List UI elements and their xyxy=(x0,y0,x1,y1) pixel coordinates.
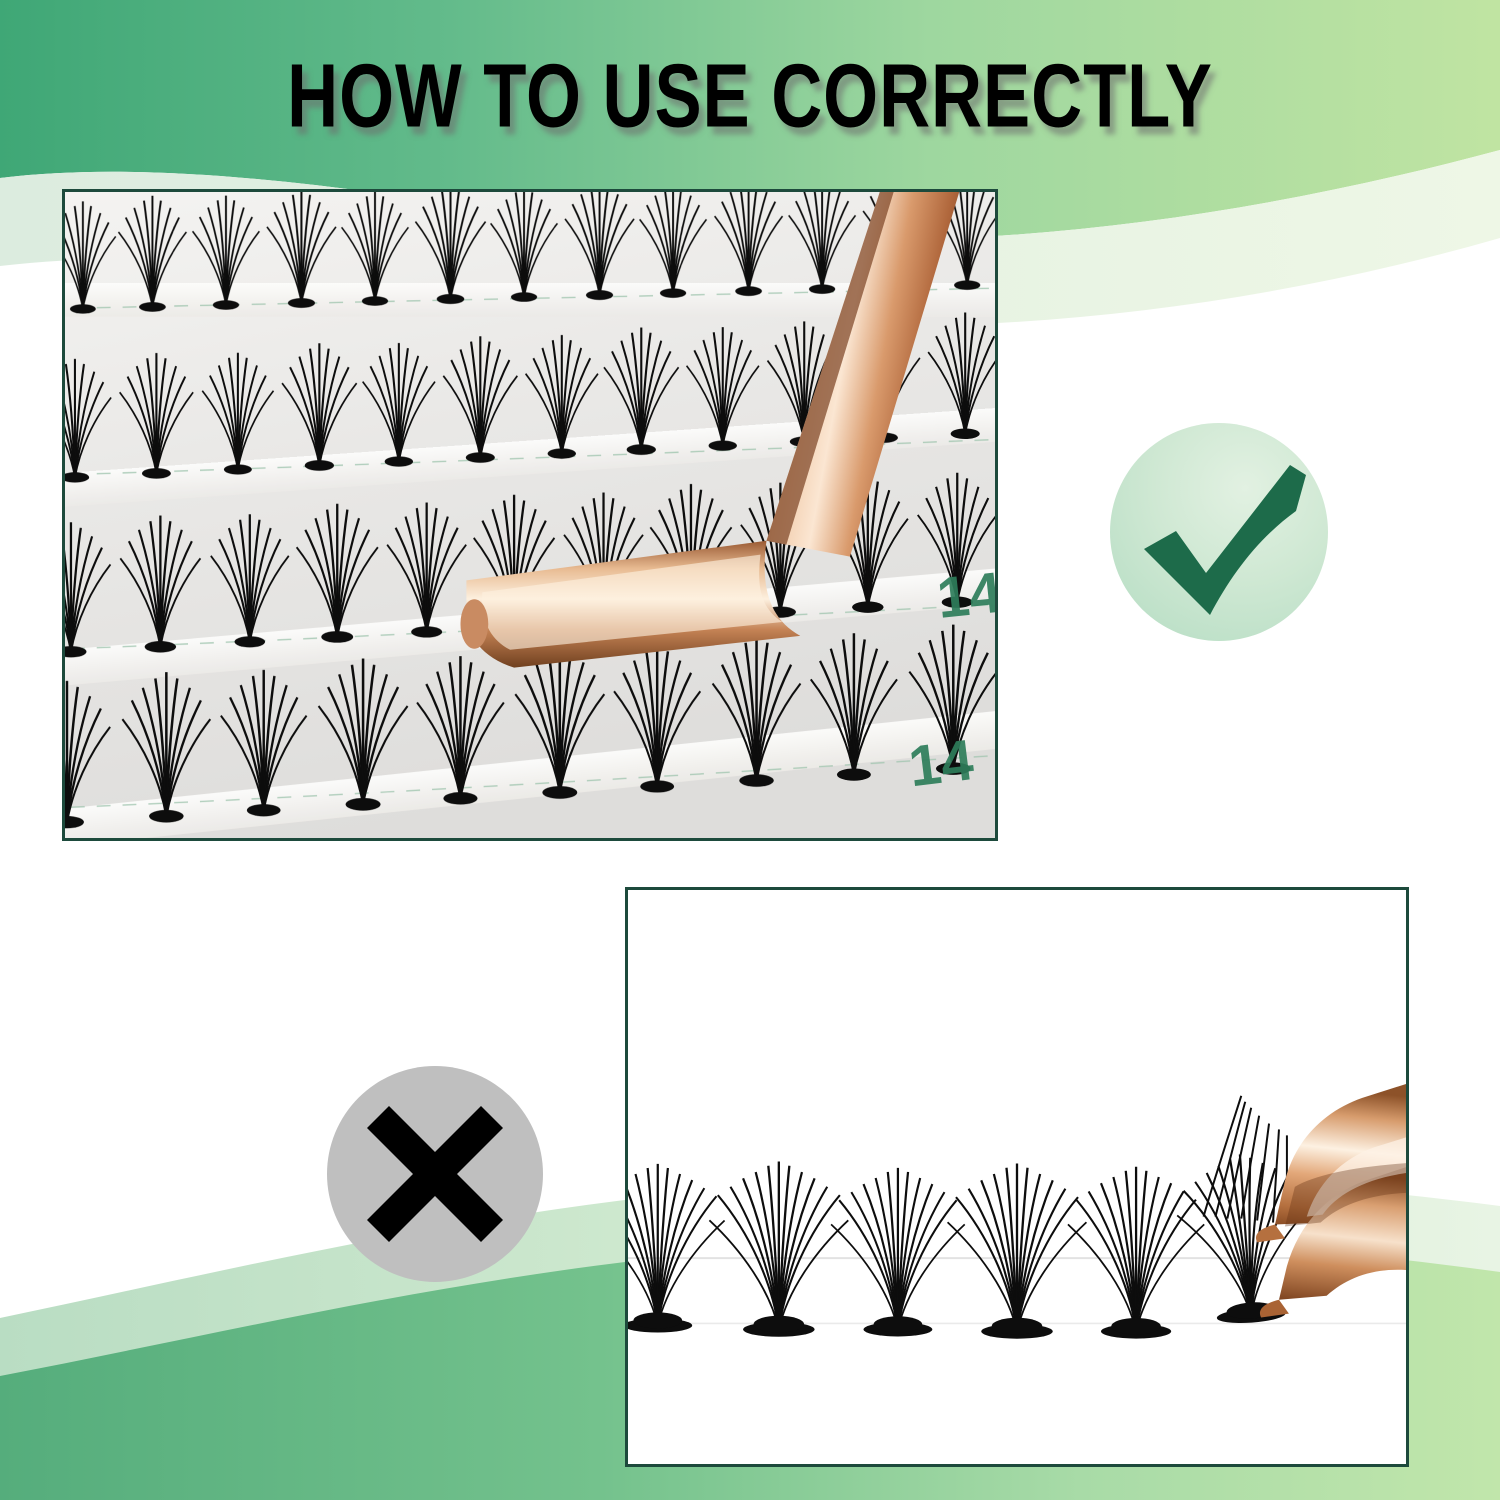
tray-size-label-1: 14 xyxy=(934,561,995,631)
page-title: HOW TO USE CORRECTLY xyxy=(53,52,1448,142)
close-icon xyxy=(327,1066,543,1282)
tray-size-label-2: 14 xyxy=(905,728,976,799)
lash-tray-top-view-illustration: 14 14 xyxy=(65,192,995,838)
check-icon xyxy=(1110,423,1328,641)
check-badge xyxy=(1110,423,1328,641)
infographic-page: HOW TO USE CORRECTLY xyxy=(0,0,1500,1500)
cross-badge xyxy=(327,1066,543,1282)
correct-usage-photo: 14 14 xyxy=(62,189,998,841)
lash-cluster-side-view-illustration xyxy=(628,890,1406,1464)
incorrect-usage-photo xyxy=(625,887,1409,1467)
